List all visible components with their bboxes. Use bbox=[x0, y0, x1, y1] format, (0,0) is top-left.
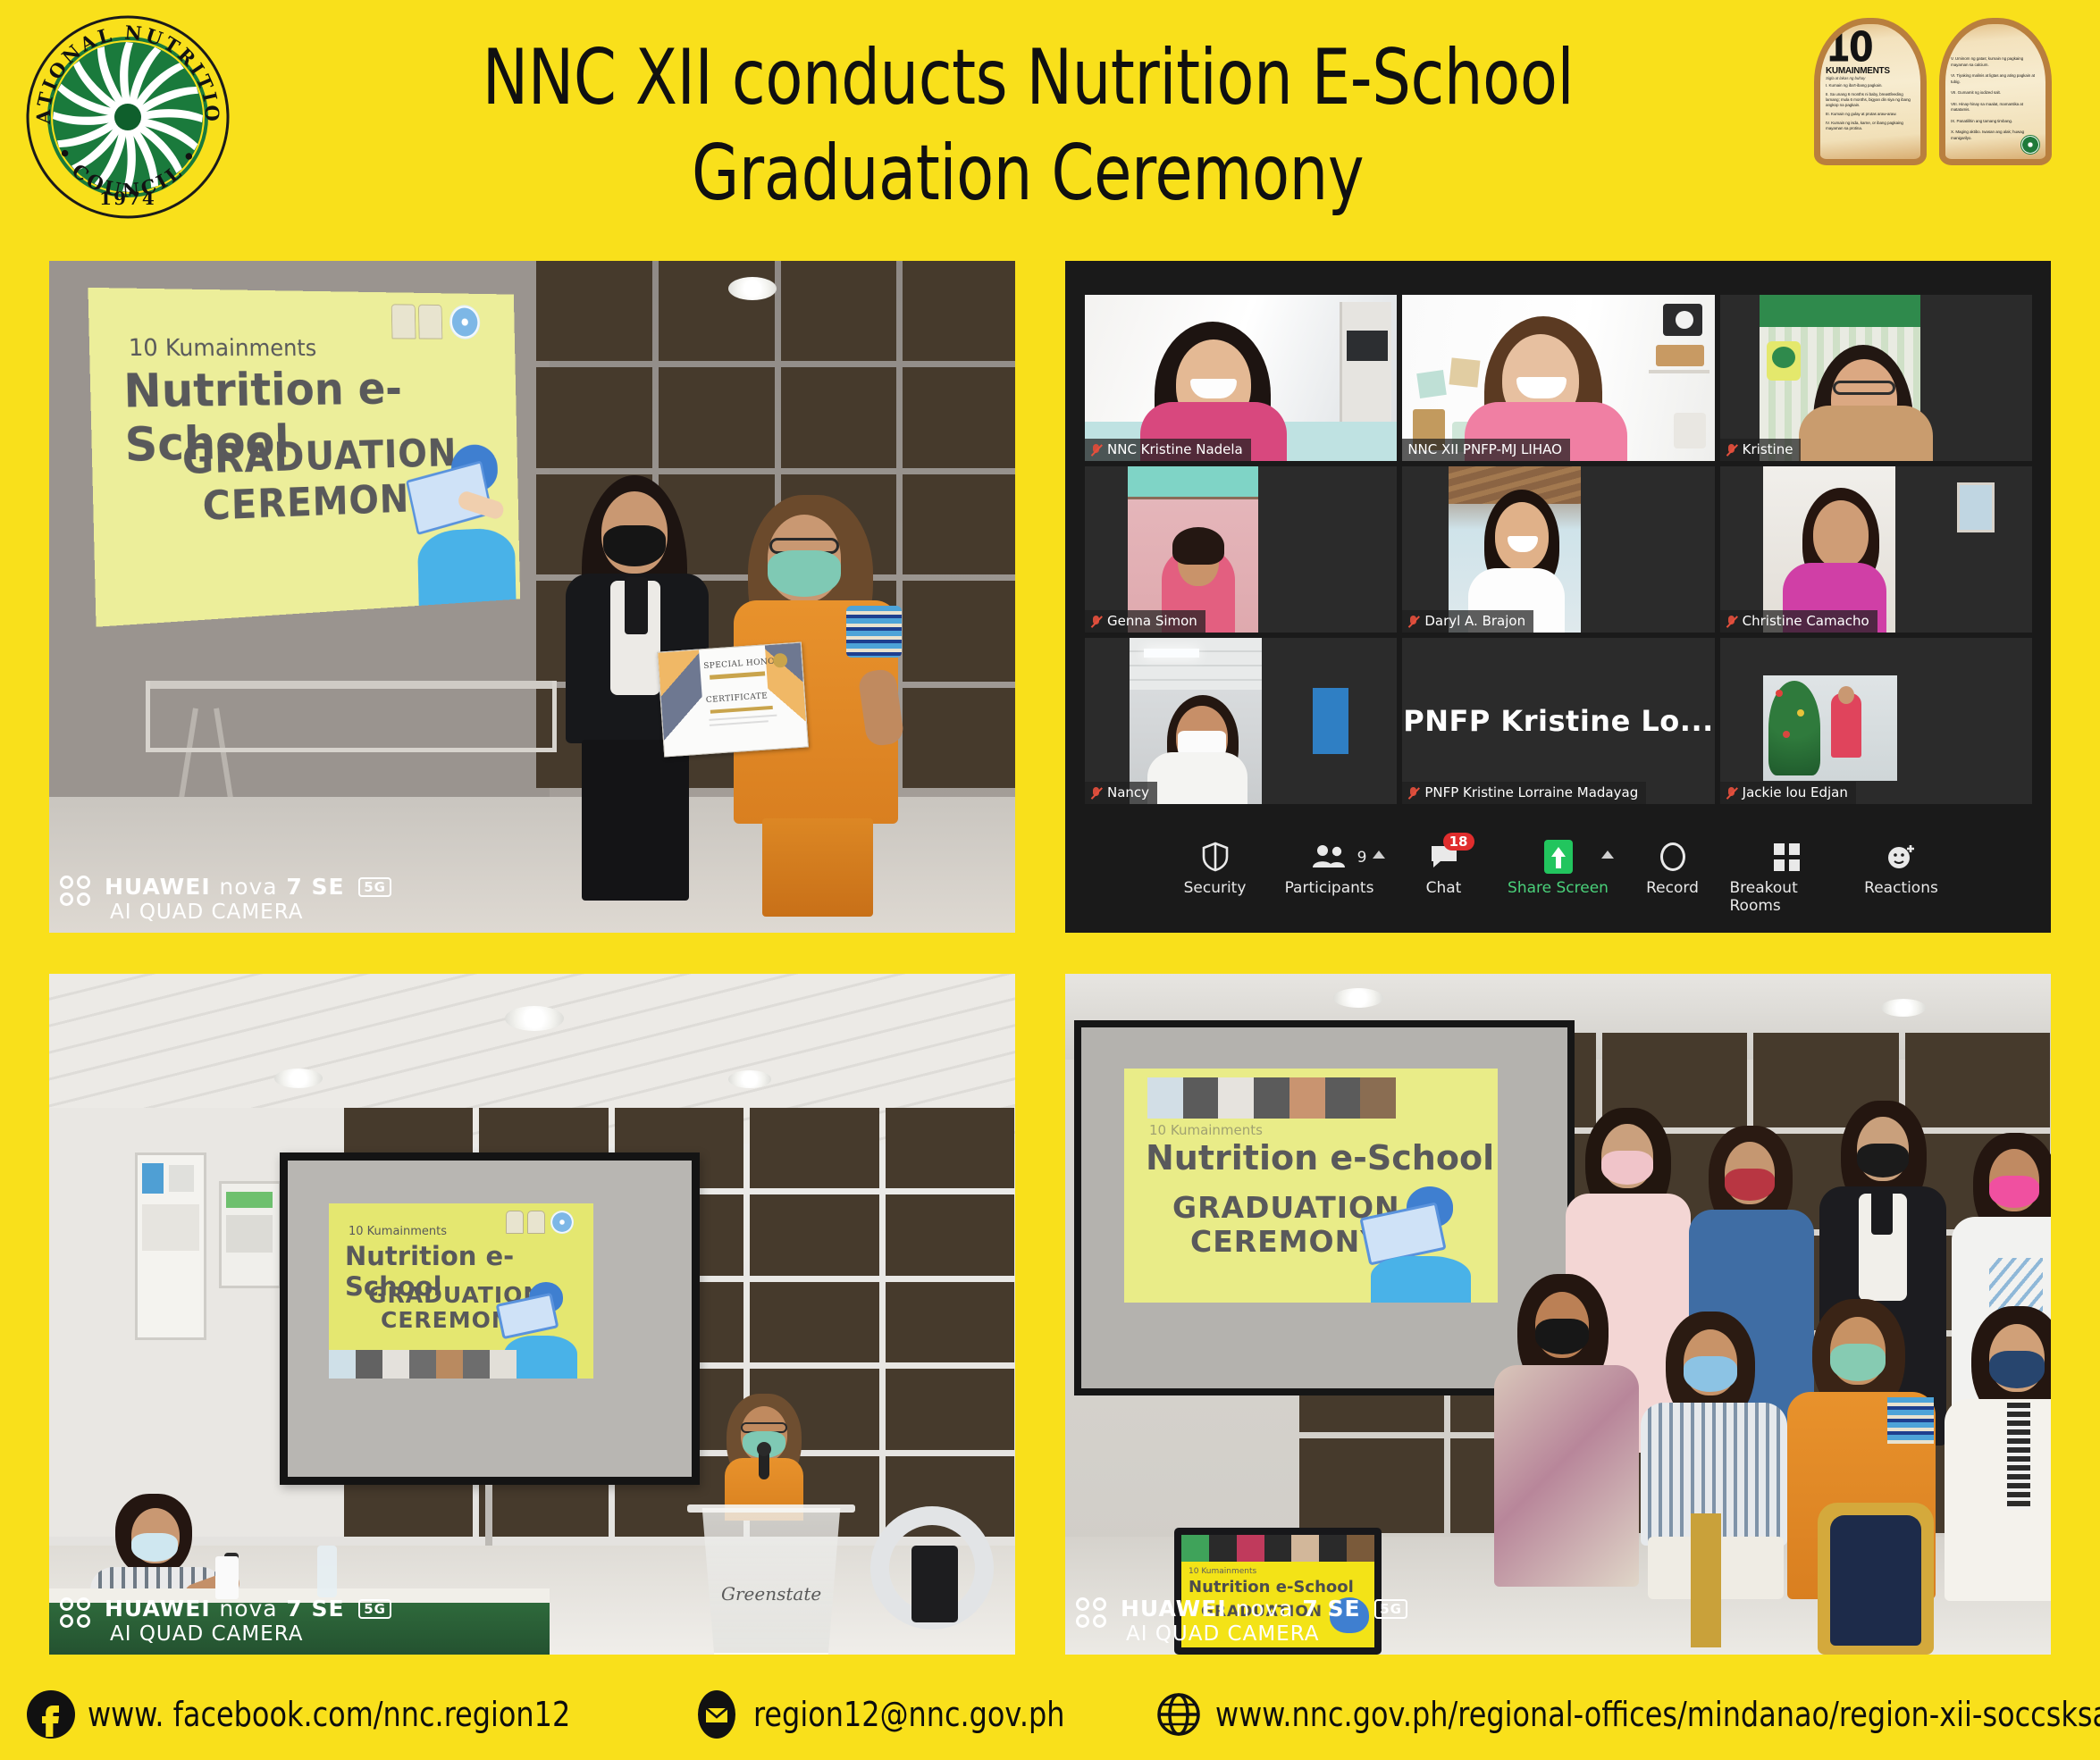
chevron-up-icon[interactable] bbox=[1601, 851, 1614, 859]
zoom-tile-0[interactable]: NNC Kristine Nadela bbox=[1085, 295, 1397, 461]
photo-podium-speech: 10 Kumainments Nutrition e-School GRADUA… bbox=[49, 974, 1015, 1655]
slide-line-2: CEREMONY bbox=[1190, 1224, 1382, 1259]
slide-eyebrow: 10 Kumainments bbox=[128, 334, 316, 362]
reactions-icon bbox=[1886, 836, 1917, 877]
participants-count: 9 bbox=[1357, 849, 1367, 867]
zoom-participants-button[interactable]: 9 Participants bbox=[1273, 836, 1387, 897]
zoom-tile-name: Jackie lou Edjan bbox=[1720, 782, 1856, 804]
footer-email[interactable]: region12@nnc.gov.ph bbox=[691, 1689, 1124, 1740]
zoom-record-button[interactable]: Record bbox=[1616, 836, 1730, 897]
mic-muted-icon bbox=[1407, 786, 1419, 800]
slide-nnc-logo-icon bbox=[449, 305, 481, 339]
person-seated bbox=[1492, 1274, 1642, 1587]
podium-brand: Greenstate bbox=[721, 1583, 821, 1605]
certificate: SPECIAL HONOR CERTIFICATE bbox=[657, 641, 809, 757]
zoom-tile-placeholder-name: PNFP Kristine Lo... bbox=[1402, 638, 1714, 804]
kumainments-number: 10 bbox=[1826, 30, 1916, 65]
poster-header: NATIONAL NUTRITION • COUNCIL • 1974 NNC … bbox=[0, 0, 2100, 261]
podium bbox=[696, 1508, 846, 1655]
projected-slide: 10 Kumainments Nutrition e-School GRADUA… bbox=[88, 288, 520, 627]
mic-muted-icon bbox=[1090, 786, 1102, 800]
projection-screen: 10 Kumainments Nutrition e-School GRADUA… bbox=[280, 1152, 700, 1485]
zoom-tile-name: Genna Simon bbox=[1085, 610, 1205, 633]
zoom-tile-5[interactable]: Christine Camacho bbox=[1720, 466, 2032, 633]
photo-collage: 10 Kumainments Nutrition e-School GRADUA… bbox=[49, 261, 2051, 1655]
zoom-tile-4[interactable]: Daryl A. Brajon bbox=[1402, 466, 1714, 633]
footer-website-text: www.nnc.gov.ph/regional-offices/mindanao… bbox=[1215, 1695, 2100, 1734]
zoom-tile-name: Kristine bbox=[1720, 439, 1802, 461]
slide-eyebrow: 10 Kumainments bbox=[1149, 1122, 1263, 1138]
zoom-filmstrip bbox=[1147, 1077, 1396, 1119]
bread-slice-left: 10 KUMAINMENTS Sigla at lakas ng buhay I… bbox=[1814, 18, 1927, 165]
person-graduate: SPECIAL HONOR CERTIFICATE bbox=[712, 495, 918, 924]
kumainment-item: II. Sa unang 6 months ni baby, breastfee… bbox=[1826, 92, 1916, 109]
chevron-up-icon[interactable] bbox=[1373, 851, 1385, 859]
zoom-share-screen-button[interactable]: Share Screen bbox=[1501, 836, 1616, 897]
share-screen-icon bbox=[1544, 836, 1573, 877]
zoom-tile-6[interactable]: Nancy bbox=[1085, 638, 1397, 804]
zoom-gallery-grid: NNC Kristine Nadela bbox=[1085, 295, 2032, 804]
nnc-seal-icon bbox=[2020, 135, 2040, 155]
ten-kumainments-badge: 10 KUMAINMENTS Sigla at lakas ng buhay I… bbox=[1814, 18, 2057, 165]
footer-website[interactable]: www.nnc.gov.ph/regional-offices/mindanao… bbox=[1153, 1689, 2100, 1740]
poster-footer: www. facebook.com/nnc.region12 region12@… bbox=[0, 1669, 2100, 1760]
record-icon bbox=[1660, 836, 1685, 877]
kumainment-item: VI. Tiyaking malinis at ligtas ang ating… bbox=[1951, 73, 2041, 85]
zoom-chat-button[interactable]: 18 Chat bbox=[1387, 836, 1501, 897]
slide-title: Nutrition e-School bbox=[1146, 1138, 1494, 1178]
photo-awarding-ceremony: 10 Kumainments Nutrition e-School GRADUA… bbox=[49, 261, 1015, 933]
zoom-tile-8[interactable]: Jackie lou Edjan bbox=[1720, 638, 2032, 804]
chair bbox=[1691, 1513, 1721, 1647]
footer-facebook-text: www. facebook.com/nnc.region12 bbox=[88, 1695, 570, 1734]
kumainment-item: I. Kumain ng iba't-ibang pagkain. bbox=[1826, 83, 1916, 88]
kumainment-item: VII. Gumamit ng iodized salt. bbox=[1951, 90, 2041, 96]
slide-nnc-logo-icon bbox=[550, 1211, 574, 1234]
zoom-tile-name: PNFP Kristine Lorraine Madayag bbox=[1402, 782, 1646, 804]
zoom-tile-name: NNC XII PNFP-MJ LIHAO bbox=[1402, 439, 1570, 461]
title-line-2: Graduation Ceremony bbox=[692, 126, 1364, 222]
zoom-toolbar: Security 9 Participants bbox=[1065, 826, 2051, 933]
photo-group-picture: 10 Kumainments Nutrition e-School GRADUA… bbox=[1065, 974, 2051, 1655]
slide-eyebrow: 10 Kumainments bbox=[1189, 1567, 1256, 1576]
zoom-tile-name: Christine Camacho bbox=[1720, 610, 1877, 633]
facebook-icon bbox=[25, 1689, 77, 1740]
zoom-breakout-rooms-button[interactable]: Breakout Rooms bbox=[1730, 836, 1844, 915]
kumainment-item: III. Kumain ng gulay at prutas araw-araw… bbox=[1826, 112, 1916, 117]
zoom-meeting-screenshot: NNC Kristine Nadela bbox=[1065, 261, 2051, 933]
slide-line-1: GRADUATION bbox=[1201, 1603, 1323, 1621]
chat-unread-badge: 18 bbox=[1443, 833, 1474, 851]
mic-muted-icon bbox=[1726, 443, 1737, 457]
zoom-tile-2[interactable]: Kristine bbox=[1720, 295, 2032, 461]
bread-slice-right: V. Uminom ng gatas; kumain ng pagkaing m… bbox=[1939, 18, 2052, 165]
slide-line-2: CEREMONY bbox=[202, 475, 435, 530]
mic-muted-icon bbox=[1090, 615, 1102, 629]
zoom-filmstrip bbox=[329, 1350, 517, 1379]
participants-icon bbox=[1312, 836, 1348, 877]
zoom-tile-7-no-video[interactable]: PNFP Kristine Lo... PNFP Kristine Lorrai… bbox=[1402, 638, 1714, 804]
slide-title: Nutrition e-School bbox=[1189, 1578, 1354, 1597]
zoom-window: NNC Kristine Nadela bbox=[1065, 261, 2051, 933]
kumainments-subheading: Sigla at lakas ng buhay bbox=[1826, 76, 1916, 80]
zoom-security-button[interactable]: Security bbox=[1158, 836, 1273, 897]
kumainment-item: VIII. Hinay-hinay sa maalat, mamantika a… bbox=[1951, 102, 2041, 113]
mic-muted-icon bbox=[1726, 786, 1737, 800]
page-title: NNC XII conducts Nutrition E-School Grad… bbox=[268, 16, 1787, 235]
zoom-tile-name: NNC Kristine Nadela bbox=[1085, 439, 1251, 461]
kumainment-item: IV. Kumain ng isda, karne, or ibang pagk… bbox=[1826, 121, 1916, 131]
certificate-line-2: CERTIFICATE bbox=[706, 691, 769, 705]
globe-icon bbox=[1153, 1689, 1205, 1740]
zoom-tile-3[interactable]: Genna Simon bbox=[1085, 466, 1397, 633]
podium-speaker: Greenstate bbox=[675, 1394, 880, 1655]
kumainment-item: V. Uminom ng gatas; kumain ng pagkaing m… bbox=[1951, 56, 2041, 68]
slide-eyebrow: 10 Kumainments bbox=[349, 1225, 447, 1238]
logo-year: 1974 bbox=[99, 188, 156, 209]
zoom-tile-name: Daryl A. Brajon bbox=[1402, 610, 1533, 633]
zoom-tile-1-active-speaker[interactable]: NNC XII PNFP-MJ LIHAO bbox=[1402, 295, 1714, 461]
title-line-1: NNC XII conducts Nutrition E-School bbox=[482, 30, 1574, 126]
breakout-rooms-icon bbox=[1774, 836, 1800, 877]
kumainment-item: IX. Panatilihin ang tamang timbang. bbox=[1951, 119, 2041, 124]
laptop: 10 Kumainments Nutrition e-School GRADUA… bbox=[1174, 1528, 1382, 1655]
mic-muted-icon bbox=[1726, 615, 1737, 629]
footer-facebook[interactable]: www. facebook.com/nnc.region12 bbox=[25, 1689, 662, 1740]
projected-slide: 10 Kumainments Nutrition e-School GRADUA… bbox=[329, 1203, 593, 1379]
person-seated bbox=[1943, 1306, 2051, 1601]
mic-muted-icon bbox=[1407, 615, 1419, 629]
projected-slide: 10 Kumainments Nutrition e-School GRADUA… bbox=[1124, 1069, 1498, 1303]
shield-icon bbox=[1202, 836, 1229, 877]
mic-muted-icon bbox=[1090, 443, 1102, 457]
zoom-reactions-button[interactable]: Reactions bbox=[1844, 836, 1959, 897]
zoom-tile-name: Nancy bbox=[1085, 782, 1157, 804]
email-icon bbox=[691, 1689, 743, 1740]
nnc-logo: NATIONAL NUTRITION • COUNCIL • 1974 bbox=[25, 14, 231, 220]
table bbox=[49, 1599, 550, 1655]
footer-email-text: region12@nnc.gov.ph bbox=[753, 1695, 1064, 1734]
